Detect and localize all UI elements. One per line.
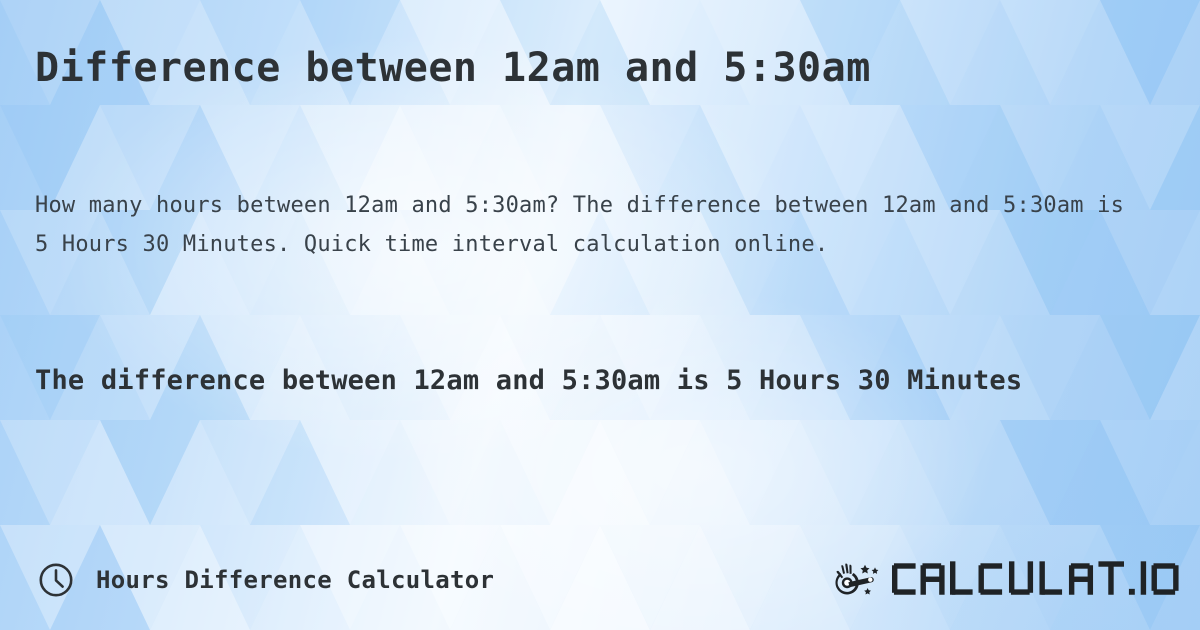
og-card: Difference between 12am and 5:30am How m… bbox=[0, 0, 1200, 630]
intro-paragraph: How many hours between 12am and 5:30am? … bbox=[35, 186, 1140, 264]
page-title: Difference between 12am and 5:30am bbox=[35, 44, 871, 92]
answer-heading: The difference between 12am and 5:30am i… bbox=[35, 358, 1115, 403]
card-content: Difference between 12am and 5:30am How m… bbox=[0, 0, 1200, 630]
card-footer: Hours Difference Calculator bbox=[0, 550, 1200, 610]
brand-logo[interactable] bbox=[830, 550, 1182, 610]
clock-icon bbox=[38, 562, 74, 598]
tool-name-label: Hours Difference Calculator bbox=[96, 566, 494, 594]
brand-name bbox=[892, 559, 1182, 601]
magic-wand-hand-icon bbox=[830, 559, 892, 601]
tool-identity: Hours Difference Calculator bbox=[38, 550, 494, 610]
